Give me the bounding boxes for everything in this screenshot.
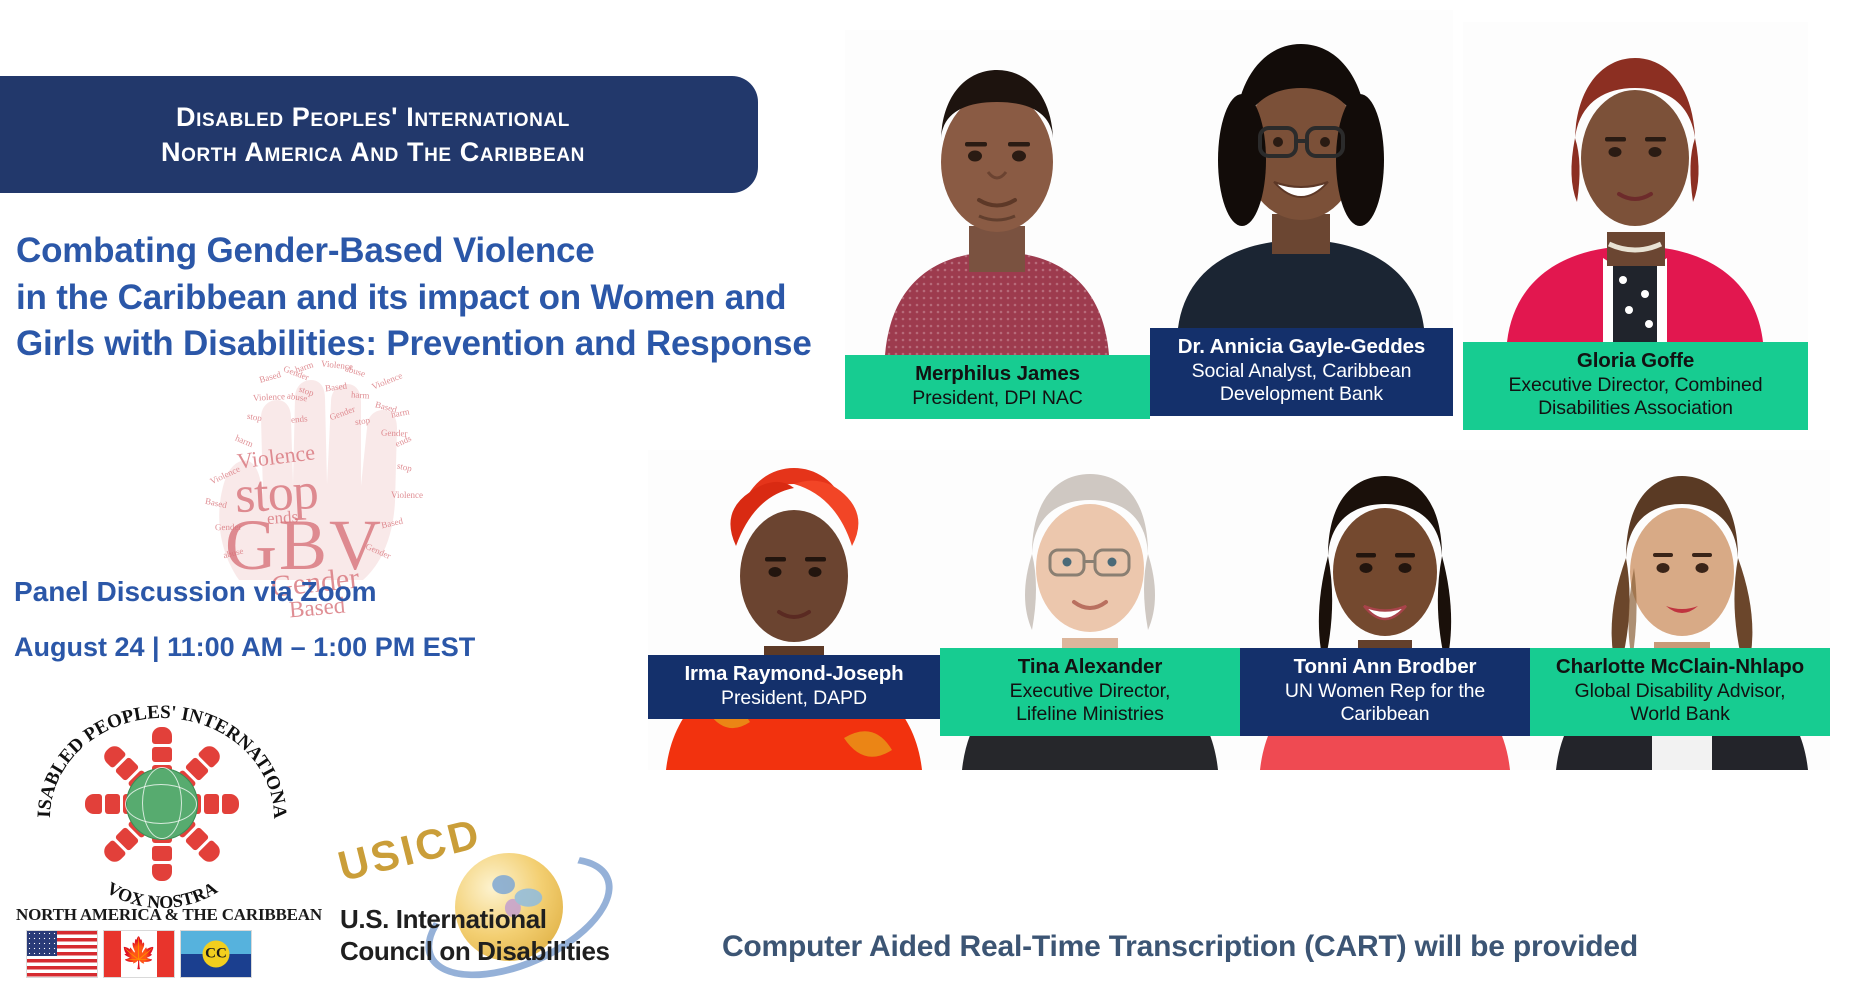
speaker-card-irma-raymond-joseph: Irma Raymond-Joseph President, DAPD [648,450,940,772]
speaker-nameplate: Tonni Ann Brodber UN Women Rep for the C… [1240,648,1530,736]
page-title: Combating Gender-Based Violence in the C… [16,228,836,368]
speaker-name: Merphilus James [851,362,1144,387]
speaker-nameplate: Merphilus James President, DPI NAC [845,355,1150,419]
speaker-card-merphilus-james: Merphilus James President, DPI NAC [845,30,1150,435]
speaker-role-line-1: Social Analyst, Caribbean [1156,360,1447,384]
speaker-nameplate: Charlotte McClain-Nhlapo Global Disabili… [1530,648,1830,736]
portrait-illustration [1463,22,1808,342]
speaker-name: Gloria Goffe [1469,349,1802,374]
organization-name-line-2: North America and the Caribbean [161,135,585,170]
speaker-name: Tonni Ann Brodber [1246,655,1524,680]
speaker-card-charlotte-mcclain-nhlapo: Charlotte McClain-Nhlapo Global Disabili… [1530,450,1830,772]
canada-flag: 🍁 [103,930,175,978]
speaker-card-gloria-goffe: Gloria Goffe Executive Director, Combine… [1463,22,1808,435]
caricom-emblem: CC [203,941,230,968]
cart-note: Computer Aided Real-Time Transcription (… [620,930,1740,964]
usicd-name: U.S. International Council on Disabiliti… [340,903,610,967]
speaker-role-line-2: Disabilities Association [1469,397,1802,421]
dpi-region-label: NORTH AMERICA & THE CARIBBEAN [16,905,306,925]
stop-gbv-hand-graphic: Violence stop ends GBV Gender Based Viol… [195,352,435,582]
speaker-photo [1150,10,1453,328]
portrait-illustration [648,450,940,770]
event-flyer: Disabled Peoples' International North Am… [0,0,1858,998]
globe-icon [126,768,198,840]
dpi-logo: DISABLED PEOPLES' INTERNATIONAL VOX NOST… [28,700,296,908]
speaker-photo [648,450,940,770]
speaker-role-line-2: Caribbean [1246,703,1524,727]
speaker-card-annicia-gayle-geddes: Dr. Annicia Gayle-Geddes Social Analyst,… [1150,10,1453,435]
speaker-nameplate: Tina Alexander Executive Director, Lifel… [940,648,1240,736]
speaker-nameplate: Dr. Annicia Gayle-Geddes Social Analyst,… [1150,328,1453,416]
event-format: Panel Discussion via Zoom [14,576,377,607]
speaker-role-line-1: President, DPI NAC [851,387,1144,411]
speaker-role-line-2: World Bank [1536,703,1824,727]
organization-name-line-1: Disabled Peoples' International [176,100,570,135]
hand-silhouette-icon [195,352,435,582]
speaker-role-line-1: President, DAPD [654,687,934,711]
speaker-name: Charlotte McClain-Nhlapo [1536,655,1824,680]
speaker-photo [1463,22,1808,342]
organization-banner: Disabled Peoples' International North Am… [0,76,758,193]
usicd-name-line-2: Council on Disabilities [340,936,610,966]
caricom-flag: CC [180,930,252,978]
flag-row: 🍁 CC [26,930,252,978]
speaker-card-tina-alexander: Tina Alexander Executive Director, Lifel… [940,450,1240,772]
portrait-illustration [845,30,1150,355]
portrait-illustration [1150,10,1453,328]
title-line-2: in the Caribbean and its impact on Women… [16,275,836,322]
speaker-role-line-1: Executive Director, Combined [1469,374,1802,398]
svg-text:VOX NOSTRA: VOX NOSTRA [103,878,220,908]
speaker-role-line-2: Development Bank [1156,383,1447,407]
event-details: Panel Discussion via Zoom August 24 | 11… [14,578,475,661]
united-states-flag [26,930,98,978]
title-line-1: Combating Gender-Based Violence [16,228,836,275]
speaker-role-line-1: Global Disability Advisor, [1536,680,1824,704]
speaker-photo [845,30,1150,355]
speaker-nameplate: Gloria Goffe Executive Director, Combine… [1463,342,1808,430]
speaker-role-line-1: Executive Director, [946,680,1234,704]
speaker-nameplate: Irma Raymond-Joseph President, DAPD [648,655,940,719]
speaker-name: Tina Alexander [946,655,1234,680]
event-datetime: August 24 | 11:00 AM – 1:00 PM EST [14,634,475,661]
speaker-name: Dr. Annicia Gayle-Geddes [1156,335,1447,360]
speaker-card-tonni-ann-brodber: Tonni Ann Brodber UN Women Rep for the C… [1240,450,1530,772]
usicd-name-line-1: U.S. International [340,904,547,934]
usicd-logo: USICD U.S. International Council on Disa… [345,845,635,990]
speaker-name: Irma Raymond-Joseph [654,662,934,687]
speaker-role-line-2: Lifeline Ministries [946,703,1234,727]
speaker-role-line-1: UN Women Rep for the [1246,680,1524,704]
